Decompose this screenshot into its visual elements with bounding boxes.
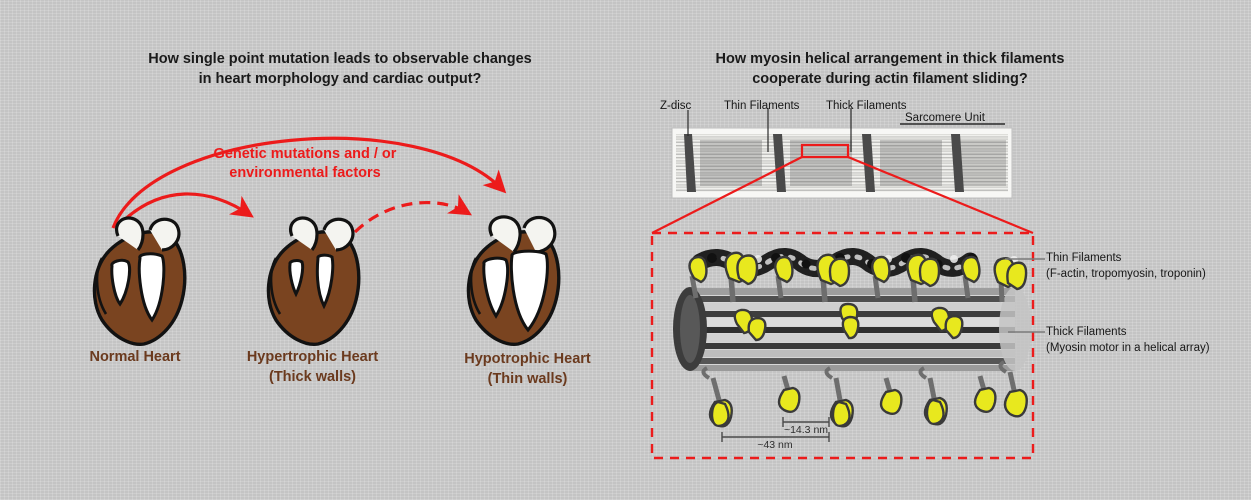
measurement-label-long: ~43 nm: [735, 439, 815, 451]
measurement-label-short: ~14.3 nm: [766, 424, 846, 436]
callout-thick-filaments: Thick Filaments (Myosin motor in a helic…: [1046, 324, 1210, 356]
callout-thin-filaments: Thin Filaments (F-actin, tropomyosin, tr…: [1046, 250, 1206, 282]
label-thin-filaments-micrograph: Thin Filaments: [724, 100, 799, 114]
sarcomere-micrograph: [672, 124, 1012, 198]
label-z-disc: Z-disc: [660, 100, 691, 114]
callout-thick-title: Thick Filaments: [1046, 324, 1210, 340]
label-sarcomere-unit: Sarcomere Unit: [905, 112, 985, 126]
label-thick-filaments-micrograph: Thick Filaments: [826, 100, 907, 114]
myosin-heads-bottom: [703, 362, 1026, 426]
figure-canvas: How single point mutation leads to obser…: [0, 0, 1251, 500]
callout-thin-sub: (F-actin, tropomyosin, troponin): [1046, 266, 1206, 282]
callout-thick-sub: (Myosin motor in a helical array): [1046, 340, 1210, 356]
callout-thin-title: Thin Filaments: [1046, 250, 1206, 266]
